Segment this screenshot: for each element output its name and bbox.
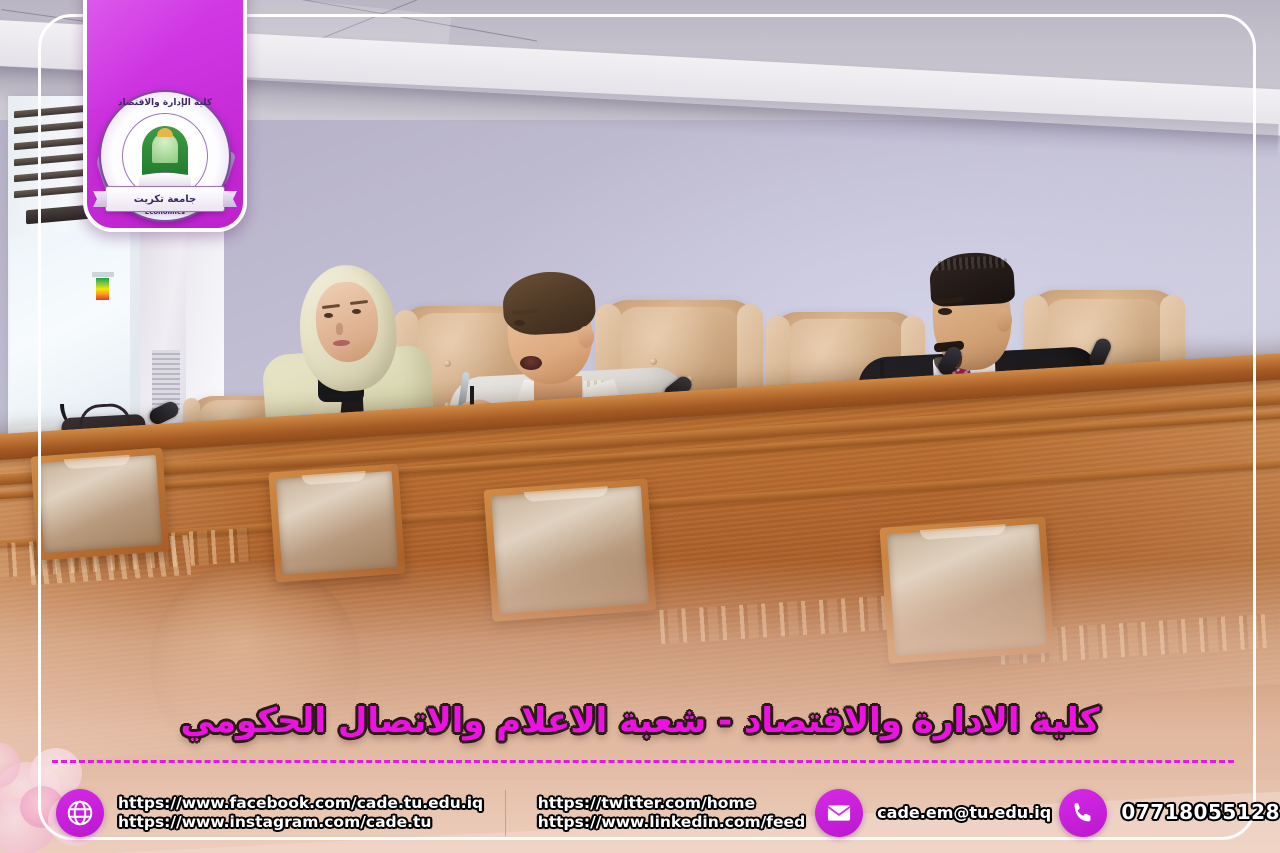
dashed-separator (52, 760, 1234, 763)
woman-eye-right (352, 309, 361, 314)
title-bar: كلية الادارة والاقتصاد - شعبة الاعلام وا… (0, 690, 1280, 752)
phone-number[interactable]: 07718055128 (1121, 800, 1280, 824)
footer-group-email: cade.em@tu.edu.iq (815, 789, 1051, 837)
ac-body (10, 227, 130, 427)
college-logo-badge: كلية الإدارة والاقتصاد College of Admini… (83, 0, 247, 232)
nameplate-3 (484, 478, 657, 621)
nameplate-2 (268, 464, 405, 583)
email-address[interactable]: cade.em@tu.edu.iq (877, 803, 1051, 823)
woman-eye-left (324, 313, 333, 318)
contact-footer: https://www.facebook.com/cade.tu.edu.iq … (0, 772, 1280, 853)
woman-nose (336, 323, 343, 335)
ac-sticker (92, 272, 114, 277)
footer-group-social-2: https://twitter.com/home https://www.lin… (524, 794, 805, 832)
man-ear (578, 326, 594, 348)
nameplate-4 (879, 516, 1054, 663)
social-links-2: https://twitter.com/home https://www.lin… (538, 794, 805, 832)
facebook-url[interactable]: https://www.facebook.com/cade.tu.edu.iq (118, 794, 483, 813)
suit-man-eye (938, 308, 952, 315)
phone-lines: 07718055128 (1121, 800, 1280, 824)
footer-group-social: https://www.facebook.com/cade.tu.edu.iq … (56, 789, 483, 837)
nameplate-1 (31, 448, 170, 561)
envelope-icon[interactable] (815, 789, 863, 837)
banner-image: hp (0, 0, 1280, 853)
crest-arabic-text: كلية الإدارة والاقتصاد (101, 98, 229, 108)
twitter-url[interactable]: https://twitter.com/home (538, 794, 805, 813)
man-mouth (520, 356, 542, 370)
wall-vent (152, 350, 180, 410)
email-lines: cade.em@tu.edu.iq (877, 803, 1051, 823)
crest-arch-icon (142, 126, 188, 180)
footer-divider-1 (505, 790, 506, 836)
linkedin-url[interactable]: https://www.linkedin.com/feed (538, 813, 805, 832)
suit-man-ear (996, 308, 1012, 332)
ac-energy-label (96, 278, 109, 300)
phone-icon[interactable] (1059, 789, 1107, 837)
page-title: كلية الادارة والاقتصاد - شعبة الاعلام وا… (181, 701, 1100, 741)
footer-group-phone: 07718055128 (1059, 789, 1280, 837)
instagram-url[interactable]: https://www.instagram.com/cade.tu (118, 813, 483, 832)
man-eye (514, 320, 525, 326)
social-links: https://www.facebook.com/cade.tu.edu.iq … (118, 794, 483, 832)
crest-ribbon: جامعة تكريت (105, 186, 225, 212)
globe-icon[interactable] (56, 789, 104, 837)
